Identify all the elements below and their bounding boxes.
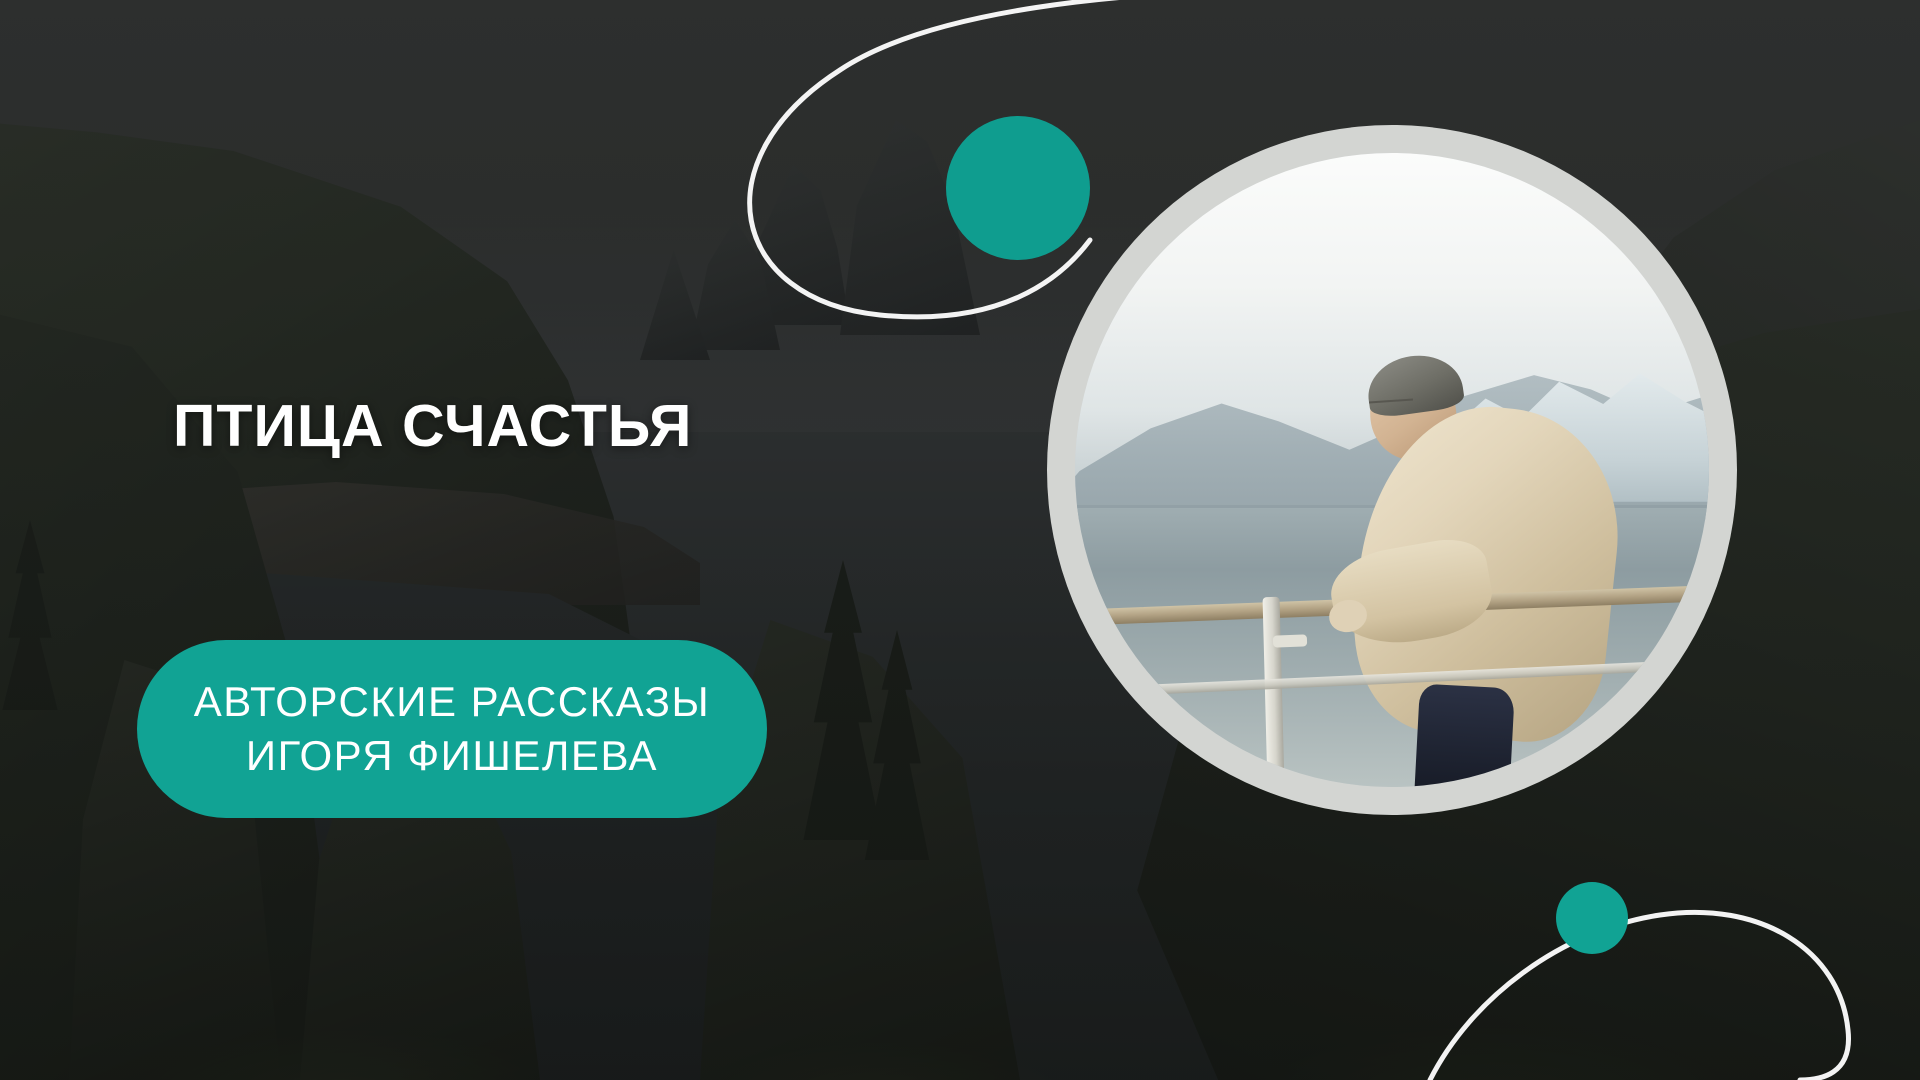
page-title: ПТИЦА СЧАСТЬЯ <box>173 392 692 460</box>
portrait-railing-bracket <box>1273 634 1307 647</box>
poster-canvas: ПТИЦА СЧАСТЬЯ АВТОРСКИЕ РАССКАЗЫ ИГОРЯ Ф… <box>0 0 1920 1080</box>
portrait-photo <box>1075 153 1709 787</box>
portrait-ring <box>1047 125 1737 815</box>
subtitle-badge: АВТОРСКИЕ РАССКАЗЫ ИГОРЯ ФИШЕЛЕВА <box>137 640 767 818</box>
subtitle-line-2: ИГОРЯ ФИШЕЛЕВА <box>246 731 658 781</box>
portrait-man-trousers <box>1414 683 1515 787</box>
subtitle-line-1: АВТОРСКИЕ РАССКАЗЫ <box>194 677 710 727</box>
